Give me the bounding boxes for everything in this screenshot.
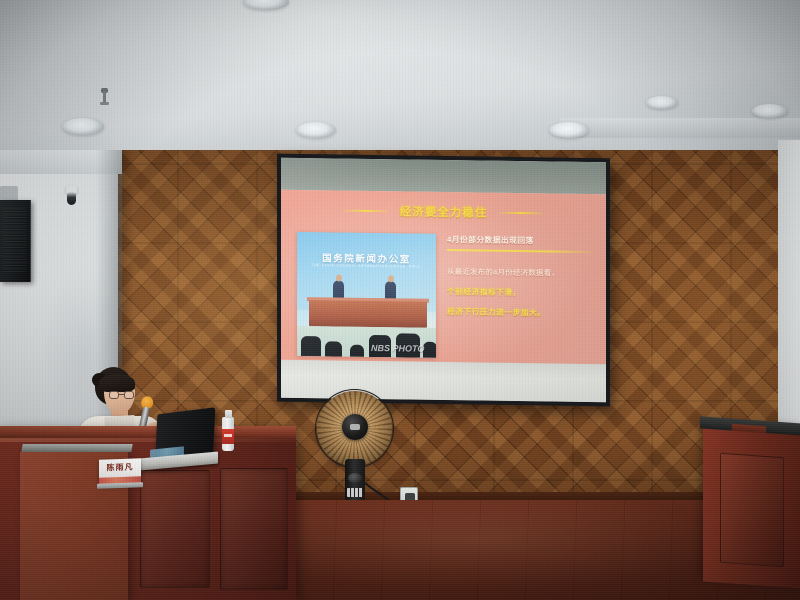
water-bottle-cap xyxy=(225,410,232,418)
lectern-top-lip xyxy=(21,444,132,452)
conference-room-photo: 经济要全力稳住 国务院新闻办公室 THE STATE COUNCIL INFOR… xyxy=(0,0,800,600)
photo-watermark: NBS PHOTO xyxy=(371,343,424,354)
ceiling-beam xyxy=(560,118,800,138)
slide-highlight-line-1: 个别经济指标下滑， xyxy=(447,286,599,299)
projection-screen[interactable]: 经济要全力稳住 国务院新闻办公室 THE STATE COUNCIL INFOR… xyxy=(277,154,610,407)
security-camera-icon xyxy=(63,186,80,208)
name-placard-text: 陈雨凡 xyxy=(99,461,141,473)
water-bottle-label xyxy=(222,429,234,444)
slide-subtitle-underline xyxy=(447,249,593,253)
slide-subtitle: 4月份部分数据出现回落 xyxy=(447,234,599,247)
slide-title: 经济要全力稳住 xyxy=(400,203,488,220)
downlight-icon xyxy=(646,96,678,109)
slide-body-line: 从最近发布的4月份经济数据看， xyxy=(447,266,599,279)
downlight-icon xyxy=(752,104,788,118)
desk-edge-highlight xyxy=(0,438,296,442)
photo-audience-silhouette xyxy=(423,342,436,358)
wall-speaker-icon xyxy=(0,200,31,282)
right-desk-panel xyxy=(720,453,784,567)
photo-audience-silhouette xyxy=(301,336,321,356)
presenter-desk-top xyxy=(0,426,296,438)
fan-hub-icon xyxy=(342,414,368,440)
photo-podium xyxy=(309,300,427,328)
desk-front-panel xyxy=(220,468,288,590)
slide-highlight-line-2: 经济下行压力进一步加大。 xyxy=(447,306,599,319)
screen-top-band xyxy=(281,158,606,195)
downlight-icon xyxy=(62,118,104,135)
fire-sprinkler-icon xyxy=(101,88,108,105)
photo-audience-silhouette xyxy=(325,341,342,356)
fan-oscillation-knob[interactable] xyxy=(348,473,362,483)
right-white-wall xyxy=(778,140,800,440)
ceiling-shading xyxy=(0,0,800,175)
presentation-slide: 经济要全力稳住 国务院新闻办公室 THE STATE COUNCIL INFOR… xyxy=(281,190,606,373)
slide-text-block: 4月份部分数据出现回落 从最近发布的4月份经济数据看， 个别经济指标下滑， 经济… xyxy=(447,234,599,319)
downlight-icon xyxy=(296,122,336,138)
title-dash-right xyxy=(499,212,543,215)
water-bottle[interactable] xyxy=(222,410,234,451)
slide-embedded-photo: 国务院新闻办公室 THE STATE COUNCIL INFORMATION O… xyxy=(297,232,436,358)
presenter-hair-front xyxy=(99,374,135,392)
title-dash-left xyxy=(344,210,388,213)
downlight-icon xyxy=(549,122,589,138)
fan-speed-buttons[interactable] xyxy=(347,488,363,497)
desk-front-panel xyxy=(140,470,210,588)
presenter-glasses xyxy=(109,391,135,399)
screen-surface: 经济要全力稳住 国务院新闻办公室 THE STATE COUNCIL INFOR… xyxy=(281,158,606,403)
photo-audience-silhouette xyxy=(350,345,364,357)
